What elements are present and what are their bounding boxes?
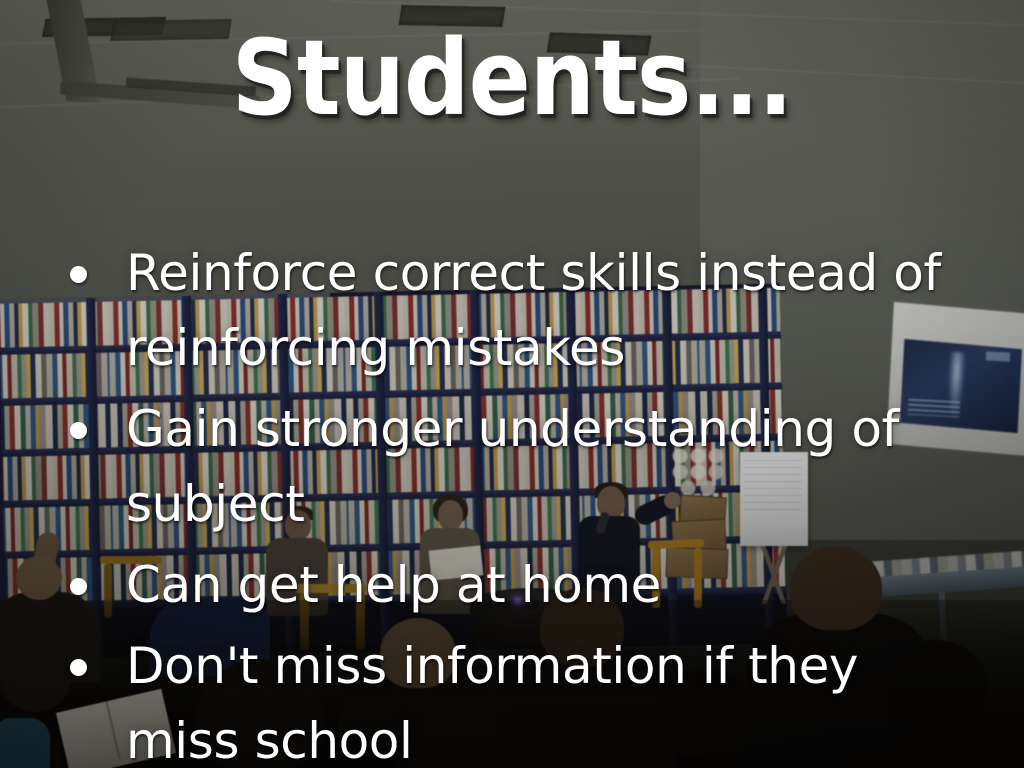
slide-content: Students... Reinforce correct skills ins… — [0, 0, 1024, 768]
bullet-item: Can get help at home — [56, 548, 956, 623]
bullet-dot-icon — [70, 578, 87, 595]
bullet-dot-icon — [70, 422, 87, 439]
slide-title: Students... — [61, 26, 962, 130]
presentation-slide: Students... Reinforce correct skills ins… — [0, 0, 1024, 768]
bullet-dot-icon — [70, 659, 87, 676]
bullet-dot-icon — [70, 266, 87, 283]
bullet-item: Gain stronger understanding of subject — [56, 392, 956, 542]
bullet-text: Can get help at home — [126, 556, 661, 614]
bullet-item: Reinforce correct skills instead of rein… — [56, 236, 956, 386]
bullet-text: Don't miss information if they miss scho… — [126, 637, 858, 768]
bullet-list: Reinforce correct skills instead of rein… — [56, 236, 956, 768]
bullet-item: Don't miss information if they miss scho… — [56, 629, 956, 768]
bullet-text: Gain stronger understanding of subject — [126, 400, 899, 533]
bullet-text: Reinforce correct skills instead of rein… — [126, 244, 941, 377]
